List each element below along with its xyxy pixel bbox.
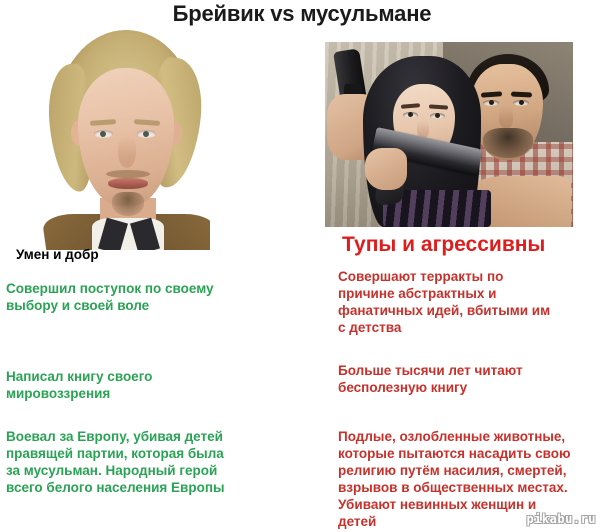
pupil-left-shape [100,131,106,137]
man-pupil-left-shape [489,100,494,105]
beard-shape [112,192,144,216]
woman-hand-shape [365,148,407,190]
page-title: Брейвик vs мусульмане [0,1,604,27]
left-column-block-3: Воевал за Европу, убивая детей правящей … [6,428,292,496]
moustache-shape [106,170,150,178]
site-watermark: pikabu.ru [526,512,596,526]
man-eyebrow-right-shape [511,91,532,97]
woman-pupil-right-shape [435,113,440,118]
left-portrait-photo [42,28,210,250]
man-beard-shape [483,128,533,158]
left-column-block-1: Совершил поступок по своему выбору и сво… [6,280,292,314]
left-column-heading: Умен и добр [16,246,99,263]
right-column-block-1: Совершают терракты по причине абстрактны… [338,268,590,336]
pupil-right-shape [143,131,149,137]
right-column-heading: Тупы и агрессивны [342,232,545,257]
right-couple-photo [325,42,573,227]
meme-image: Брейвик vs мусульмане [0,0,604,532]
man-nose-shape [499,106,513,128]
man-pupil-right-shape [519,100,524,105]
left-column-block-2: Написал книгу своего мировоззрения [6,368,292,402]
mouth-shape [108,178,148,189]
woman-pupil-left-shape [408,112,413,117]
nose-shape [118,136,136,168]
right-column-block-2: Больше тысячи лет читают бесполезную кни… [338,362,590,396]
